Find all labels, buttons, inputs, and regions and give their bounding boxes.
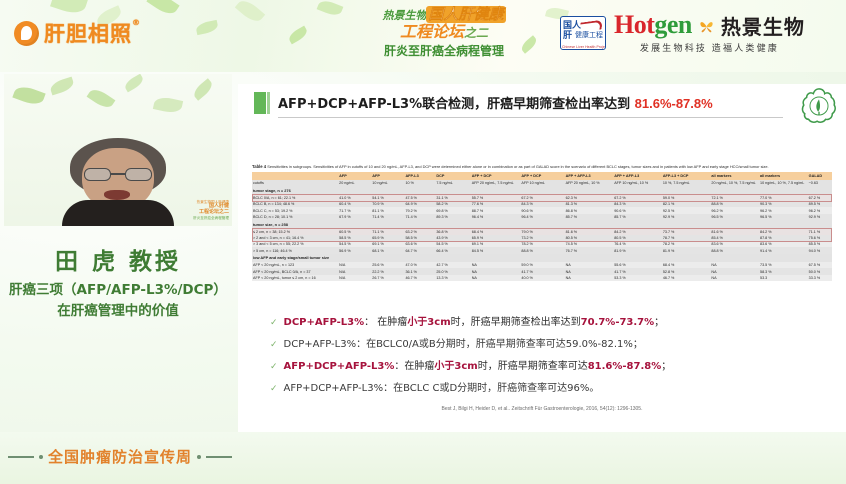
bullet-text: AFP+DCP+AFP-L3%：在BCLC C或D分期时，肝癌筛查率可达96%。 (284, 382, 600, 395)
table-cell: 13.3 % (435, 275, 470, 281)
video-watermark: 热景生物国人肝健康 国人肝健 工程论坛之二 肝炎至肝癌全病程管理 (169, 200, 229, 220)
forum-brand-prefix: 热景生物 (382, 10, 426, 22)
table-col-header: AFP + DCP (520, 172, 564, 180)
bullet-item: ✓AFP+DCP+AFP-L3%：在BCLC C或D分期时，肝癌筛查率可达96%… (270, 382, 830, 395)
table-head: AFPAFPAFP-L3DCPAFP + DCPAFP + DCPAFP + A… (252, 172, 832, 180)
check-icon: ✓ (270, 338, 278, 351)
conclusion-bullets: ✓DCP+AFP-L3%： 在肿瘤小于3cm时，肝癌早期筛查检出率达到70.7%… (270, 316, 830, 404)
campaign-text: 全国肿瘤防治宣传周 (48, 446, 192, 467)
forum-line2-main: 工程论坛 (400, 24, 464, 41)
table-section-row: tumor stage, n = 276 (252, 186, 832, 194)
table-section-title: tumor size, n = 258 (252, 220, 832, 228)
talk-title: 肝癌三项（AFP/AFP-L3%/DCP） 在肝癌管理中的价值 (4, 280, 232, 322)
table-col-header (252, 172, 338, 180)
table-cell: N/A (338, 275, 371, 281)
event-header-banner: 肝胆相照® 热景生物国人肝健康 工程论坛之二 肝炎至肝癌全病程管理 国人 肝 健… (0, 0, 846, 72)
bullet-lead: AFP+DCP+AFP-L3% (284, 361, 395, 372)
slide-title-highlight: 81.6%-87.8% (635, 96, 713, 111)
bullet-item: ✓DCP+AFP-L3%： 在肿瘤小于3cm时，肝癌早期筛查检出率达到70.7%… (270, 316, 830, 329)
table-caption-text: Sensitivities in subgroups. Sensitivitie… (267, 164, 768, 169)
butterfly-icon (699, 19, 714, 34)
bullet-mid2: 时，肝癌早期筛查检出率达到 (451, 317, 581, 328)
table-section-title: low AFP and early stage/small tumor size (252, 254, 832, 262)
bullet-emphasis-rate: 81.6%-87.8% (588, 361, 662, 372)
table-col-header: DCP (435, 172, 470, 180)
decorative-leaf (123, 74, 145, 92)
forum-title-line1: 热景生物国人肝健康 (336, 7, 552, 23)
forum-title-line2: 工程论坛之二 (336, 25, 552, 42)
bullet-text: DCP+AFP-L3%： 在肿瘤小于3cm时，肝癌早期筛查检出率达到70.7%-… (284, 316, 665, 329)
hotgen-logo: Hotgen 热景生物 发展生物科技 造福人类健康 (614, 12, 805, 54)
table-col-header: all markers (710, 172, 759, 180)
hotgen-logo-row: Hotgen 热景生物 (614, 12, 805, 38)
decorative-leaf (12, 83, 45, 107)
bullet-mid2: 时，肝癌早期筛查率可达 (478, 361, 588, 372)
institution-emblem-icon (800, 87, 838, 125)
table-caption: Table 4 Sensitivities in subgroups. Sens… (252, 164, 832, 170)
talk-title-line1: 肝癌三项（AFP/AFP-L3%/DCP） (4, 280, 232, 301)
bullet-mid: ：在BCLC C或D分期时，肝癌筛查率可达96%。 (383, 383, 599, 394)
hotgen-word-part2: gen (654, 10, 692, 39)
torso (62, 200, 174, 226)
dot-left-icon (39, 455, 43, 459)
check-icon: ✓ (270, 382, 278, 395)
table-section-row: tumor size, n = 258 (252, 220, 832, 228)
table-cell: 33.3 % (808, 275, 832, 281)
table-cell: 46.7 % (662, 275, 711, 281)
sponsor-brand-block[interactable]: 国人 肝 健康工程 Chinese Liver Health Project H… (560, 12, 805, 54)
decorative-leaf (195, 20, 219, 35)
decorative-leaf (50, 0, 88, 17)
logo-text: 肝胆相照® (44, 18, 141, 48)
table-container: Table 4 Sensitivities in subgroups. Sens… (252, 164, 832, 281)
decorative-leaf (87, 86, 116, 111)
speaker-name: 田 虎 教授 (0, 242, 236, 276)
table-col-header: AFP + AFP-L3 (613, 172, 662, 180)
dash-left-icon (8, 456, 34, 458)
table-cell: 53.3 (759, 275, 808, 281)
bullet-lead: DCP+AFP-L3% (284, 339, 357, 350)
table-cell: 53.3 % (613, 275, 662, 281)
lens-right (125, 168, 152, 181)
china-liver-health-project-icon: 国人 肝 健康工程 Chinese Liver Health Project (560, 16, 606, 50)
slide-header: AFP+DCP+AFP-L3%联合检测，肝癌早期筛查检出率达到 81.6%-87… (238, 84, 846, 122)
hotgen-wordmark: Hotgen (614, 12, 692, 38)
watermark-line4: 肝炎至肝癌全病程管理 (169, 216, 229, 220)
table-col-header: AFP-L3 + DCP (662, 172, 711, 180)
decorative-leaf (287, 26, 309, 45)
talk-title-line2: 在肝癌管理中的价值 (4, 301, 232, 322)
decorative-leaf (49, 77, 76, 96)
presentation-slide[interactable]: AFP+DCP+AFP-L3%联合检测，肝癌早期筛查检出率达到 81.6%-87… (238, 84, 846, 432)
row-label: AFP < 20 ng/mL, tumor ≤ 2 cm, n = 16 (252, 275, 338, 281)
table-col-header: AFP (371, 172, 404, 180)
table-section-title: tumor stage, n = 276 (252, 186, 832, 194)
liver-logo-icon (14, 21, 39, 46)
hotgen-word-part1: Hot (614, 10, 654, 39)
bullet-mid: ： 在肿瘤 (364, 317, 407, 328)
table-col-header: AFP + DCP (471, 172, 521, 180)
bullet-text: AFP+DCP+AFP-L3%：在肿瘤小于3cm时，肝癌早期筛查率可达81.6%… (284, 360, 672, 373)
sensitivity-table: AFPAFPAFP-L3DCPAFP + DCPAFP + DCPAFP + A… (252, 172, 832, 281)
bullet-tail: ； (654, 317, 664, 328)
broadcast-screen: 肝胆相照® 热景生物国人肝健康 工程论坛之二 肝炎至肝癌全病程管理 国人 肝 健… (0, 0, 846, 484)
table-cell: NA (565, 275, 614, 281)
badge-text-line2: 肝 (563, 28, 572, 41)
lens-left (84, 168, 111, 181)
table-cell: 46.7 % (404, 275, 435, 281)
table-col-header: AFP-L3 (404, 172, 435, 180)
table-header-row: AFPAFPAFP-L3DCPAFP + DCPAFP + DCPAFP + A… (252, 172, 832, 180)
table-body: cutoffs20 ng/mL10 ng/mL10 %7.5 ng/mLAFP … (252, 180, 832, 281)
bullet-lead: DCP+AFP-L3% (284, 317, 365, 328)
table-col-header: AFP (338, 172, 371, 180)
hotgen-slogan: 发展生物科技 造福人类健康 (614, 41, 805, 54)
table-cell: 26.7 % (371, 275, 404, 281)
slide-title-rule (278, 117, 783, 118)
table-col-header: GALAD (808, 172, 832, 180)
table-col-header: all markers (759, 172, 808, 180)
speaker-panel: 热景生物国人肝健康 国人肝健 工程论坛之二 肝炎至肝癌全病程管理 田 虎 教授 … (0, 72, 236, 432)
badge-text-en: Chinese Liver Health Project (562, 45, 606, 49)
slide-title: AFP+DCP+AFP-L3%联合检测，肝癌早期筛查检出率达到 81.6%-87… (278, 93, 713, 112)
forum-title-block: 热景生物国人肝健康 工程论坛之二 肝炎至肝癌全病程管理 (336, 7, 552, 57)
forum-line2-suffix: 之二 (464, 26, 488, 40)
table-caption-label: Table 4 (252, 164, 266, 169)
dot-right-icon (197, 455, 201, 459)
speaker-portrait (62, 138, 174, 226)
decorative-leaf (146, 0, 179, 18)
campaign-label: 全国肿瘤防治宣传周 (8, 446, 232, 467)
decorative-leaf (153, 95, 183, 115)
dash-right-icon (206, 456, 232, 458)
registered-mark: ® (132, 18, 141, 27)
decorative-leaf (191, 78, 215, 101)
bullet-emphasis-size: 小于3cm (407, 317, 450, 328)
bullet-lead: AFP+DCP+AFP-L3% (284, 383, 384, 394)
bullet-tail: ； (661, 361, 671, 372)
bottom-banner: 全国肿瘤防治宣传周 (0, 432, 846, 484)
citation-reference: Best J, Bilgi H, Heider D, et al.. Zeits… (238, 406, 846, 412)
table-cell: NA (471, 275, 521, 281)
glasses-icon (84, 168, 152, 181)
check-icon: ✓ (270, 360, 278, 373)
bullet-item: ✓DCP+AFP-L3%：在BCLC0/A或B分期时，肝癌早期筛查率可达59.0… (270, 338, 830, 351)
bullet-item: ✓AFP+DCP+AFP-L3%：在肿瘤小于3cm时，肝癌早期筛查率可达81.6… (270, 360, 830, 373)
slide-accent-bar (254, 92, 266, 114)
bullet-text: DCP+AFP-L3%：在BCLC0/A或B分期时，肝癌早期筛查率可达59.0%… (284, 338, 643, 351)
ganda-xiangzhao-logo[interactable]: 肝胆相照® (14, 18, 141, 48)
hotgen-chinese-name: 热景生物 (721, 16, 805, 38)
mouth (104, 190, 130, 200)
table-col-header: AFP + AFP-L3 (565, 172, 614, 180)
table-section-row: low AFP and early stage/small tumor size (252, 254, 832, 262)
speaker-video-feed[interactable]: 热景生物国人肝健康 国人肝健 工程论坛之二 肝炎至肝癌全病程管理 (4, 74, 232, 226)
table-cell: NA (710, 275, 759, 281)
check-icon: ✓ (270, 316, 278, 329)
bullet-emphasis-rate: 70.7%-73.7% (581, 317, 655, 328)
table-cell: 40.0 % (520, 275, 564, 281)
bullet-emphasis-size: 小于3cm (434, 361, 477, 372)
decorative-leaf (235, 0, 265, 25)
forum-highlight: 国人肝健康 (426, 6, 505, 23)
lens-bridge (111, 173, 125, 175)
bullet-mid: ：在BCLC0/A或B分期时，肝癌早期筛查率可达59.0%-82.1%； (356, 339, 643, 350)
bullet-mid: ：在肿瘤 (394, 361, 434, 372)
slide-title-main: AFP+DCP+AFP-L3%联合检测，肝癌早期筛查检出率达到 (278, 97, 630, 112)
forum-title-line3: 肝炎至肝癌全病程管理 (336, 45, 552, 58)
table-row: AFP < 20 ng/mL, tumor ≤ 2 cm, n = 16N/A2… (252, 275, 832, 281)
